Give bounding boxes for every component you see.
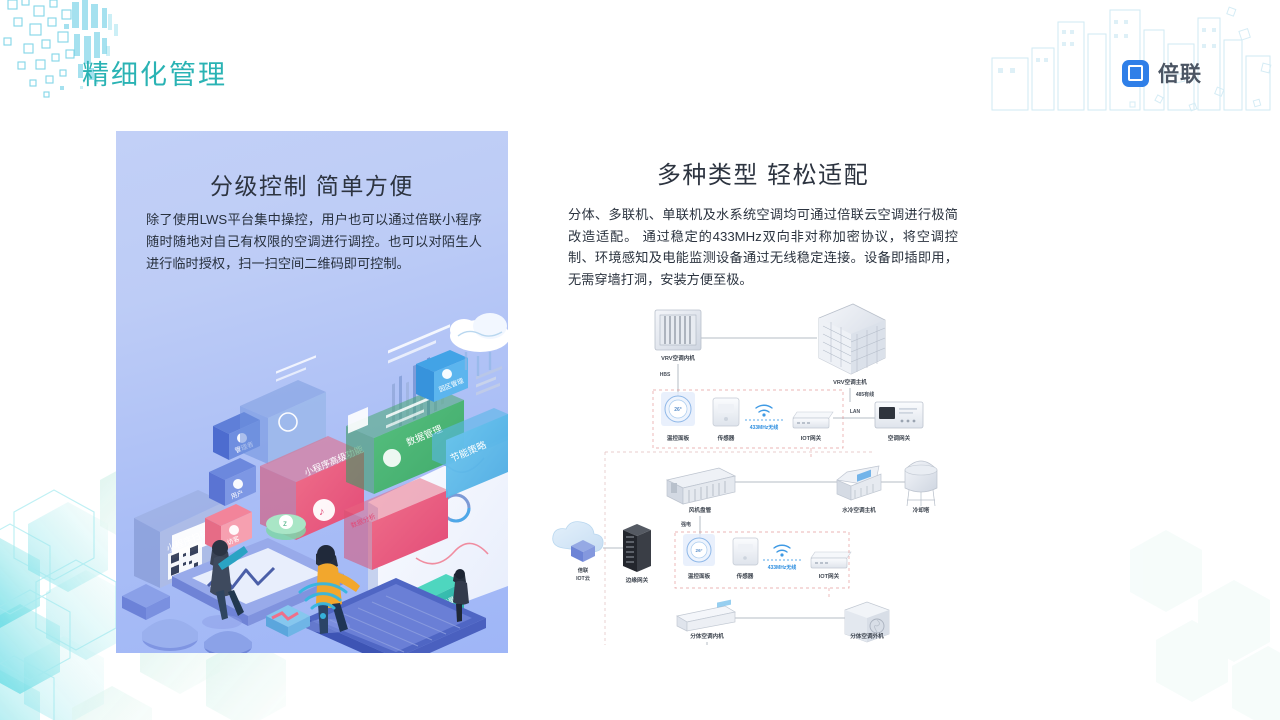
left-card-body: 除了使用LWS平台集中操控，用户也可以通过倍联小程序随时随地对自己有权限的空调进… [146,209,482,275]
node-label-vrv-outdoor: VRV空调主机 [833,378,867,386]
page-header: 精细化管理 倍联 [0,0,1280,120]
node-label-sensor-2: 传感器 [736,572,754,580]
svg-text:26°: 26° [696,548,703,553]
right-column-title: 多种类型 轻松适配 [568,155,958,190]
left-card-title: 分级控制 简单方便 [116,167,508,201]
node-label-iot-gateway-2: IOT网关 [819,572,840,580]
node-label-thermostat-2: 温控面板 [688,572,711,580]
node-label-vrv-indoor: VRV空调内机 [661,354,695,362]
air-conditioning-iot-topology-diagram: VRV空调内机 VRV空调主机 HBS [545,300,945,645]
square-logo-icon [1122,60,1149,87]
node-label-ac-gateway: 空调网关 [888,434,911,442]
node-label-thermostat-1: 温控面板 [667,434,690,442]
svg-text:26°: 26° [674,407,682,413]
node-label-split-outdoor: 分体空调外机 [850,632,884,640]
bottom-right-hexagon-decoration [980,470,1280,720]
node-label-iot-cloud-2: IOT云 [576,575,590,582]
wireless-label-1: 433MHz无线 [750,424,779,431]
link-label-hbs: HBS [660,372,671,378]
node-label-iot-gateway-1: IOT网关 [801,434,822,442]
right-column-body: 分体、多联机、单联机及水系统空调均可通过倍联云空调进行极简改造适配。 通过稳定的… [568,204,958,290]
node-label-edge-gateway: 边缘网关 [625,576,649,584]
link-label-485: 485有线 [856,391,874,398]
node-label-water-chiller: 水冷空调主机 [841,506,876,514]
slide-canvas: 精细化管理 倍联 分级控制 简单方便 除了使用LWS平台集中操控，用户也可以通过… [0,0,1280,720]
left-feature-card: 分级控制 简单方便 除了使用LWS平台集中操控，用户也可以通过倍联小程序随时随地… [116,131,508,653]
link-label-lan: LAN [850,409,861,415]
isometric-smart-control-illustration: 小程序扫码调控 管理者 [116,286,508,653]
node-label-split-indoor: 分体空调内机 [690,632,724,640]
node-label-iot-cloud-1: 倍联 [578,566,589,574]
node-label-fan-coil: 风机盘管 [689,506,712,514]
page-title: 精细化管理 [82,53,227,92]
link-label-strong-electric: 强电 [681,521,691,528]
svg-text:♪: ♪ [319,506,325,518]
wireless-label-2: 433MHz无线 [768,564,797,571]
node-label-sensor-1: 传感器 [717,434,735,442]
node-label-cooling-tower: 冷却塔 [913,506,930,514]
right-feature-column: 多种类型 轻松适配 分体、多联机、单联机及水系统空调均可通过倍联云空调进行极简改… [568,155,958,290]
brand-logo: 倍联 [1122,58,1202,88]
svg-text:z: z [283,519,287,528]
brand-name: 倍联 [1158,58,1202,88]
